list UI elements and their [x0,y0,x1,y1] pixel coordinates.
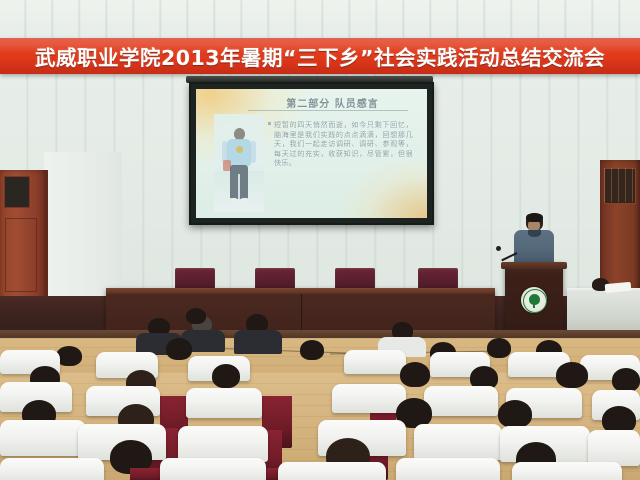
audience-shoulders [234,330,282,354]
audience-head [487,338,511,358]
seat-cover [160,458,266,480]
stage-chair [255,268,295,290]
audience-head [212,364,240,388]
audience-head [556,362,588,388]
door-left[interactable] [0,170,48,302]
conference-hall-photo: 武威职业学院2013年暑期“三下乡”社会实践活动总结交流会 第二部分 队员感言 [0,0,640,480]
audience-head [612,368,640,392]
seat-cover [588,430,640,466]
podium-top [501,262,567,269]
slide-body-text: 短暂的四天悄然而逝，如今只剩下回忆，脑海里是我们实践的点点滴滴，回想那几天，我们… [274,120,413,168]
slide-bullet-icon [268,122,271,125]
seat-cover [0,420,86,456]
audience-head [400,362,430,387]
banner-text: 武威职业学院2013年暑期“三下乡”社会实践活动总结交流会 [35,41,605,71]
audience [0,300,640,480]
speaker-collar [528,230,541,237]
photo-shirt-logo [236,146,243,153]
seat-cover [0,458,104,480]
slide-title-rule [248,110,408,111]
audience-head [186,308,206,324]
seat-cover [424,386,498,416]
seat-cover [344,350,406,374]
seat-cover [396,458,500,480]
seat-cover [278,462,386,480]
speaker-hair [526,213,543,222]
slide-photo [214,114,264,212]
door-left-panel [5,218,37,292]
audience-head [300,340,324,360]
event-banner: 武威职业学院2013年暑期“三下乡”社会实践活动总结交流会 [0,38,640,74]
photo-leg-gap [238,174,240,199]
seat-cover [414,424,502,460]
stage-chair [175,268,215,290]
photo-shoe-right [241,198,248,203]
door-right-mullions [604,168,634,202]
seat-cover [512,462,622,480]
audience-head [498,400,532,428]
stage-chair [418,268,458,290]
wall-panel-left [44,152,122,302]
stage-chair [335,268,375,290]
door-left-window [4,176,30,208]
seat-cover [186,388,262,418]
microphone-head-icon [496,246,501,251]
upper-wall [0,0,640,40]
slide-title: 第二部分 队员感言 [244,95,421,110]
audience-head [166,338,192,360]
seat-cover [178,426,268,462]
seat-cover [332,384,406,413]
speaker [512,213,556,265]
photo-shoe-left [230,198,237,203]
presentation-slide: 第二部分 队员感言 短暂的四天悄然而逝，如今只剩下回忆，脑海里是我们实践的点点滴… [196,89,427,218]
projection-screen: 第二部分 队员感言 短暂的四天悄然而逝，如今只剩下回忆，脑海里是我们实践的点点滴… [189,82,434,225]
